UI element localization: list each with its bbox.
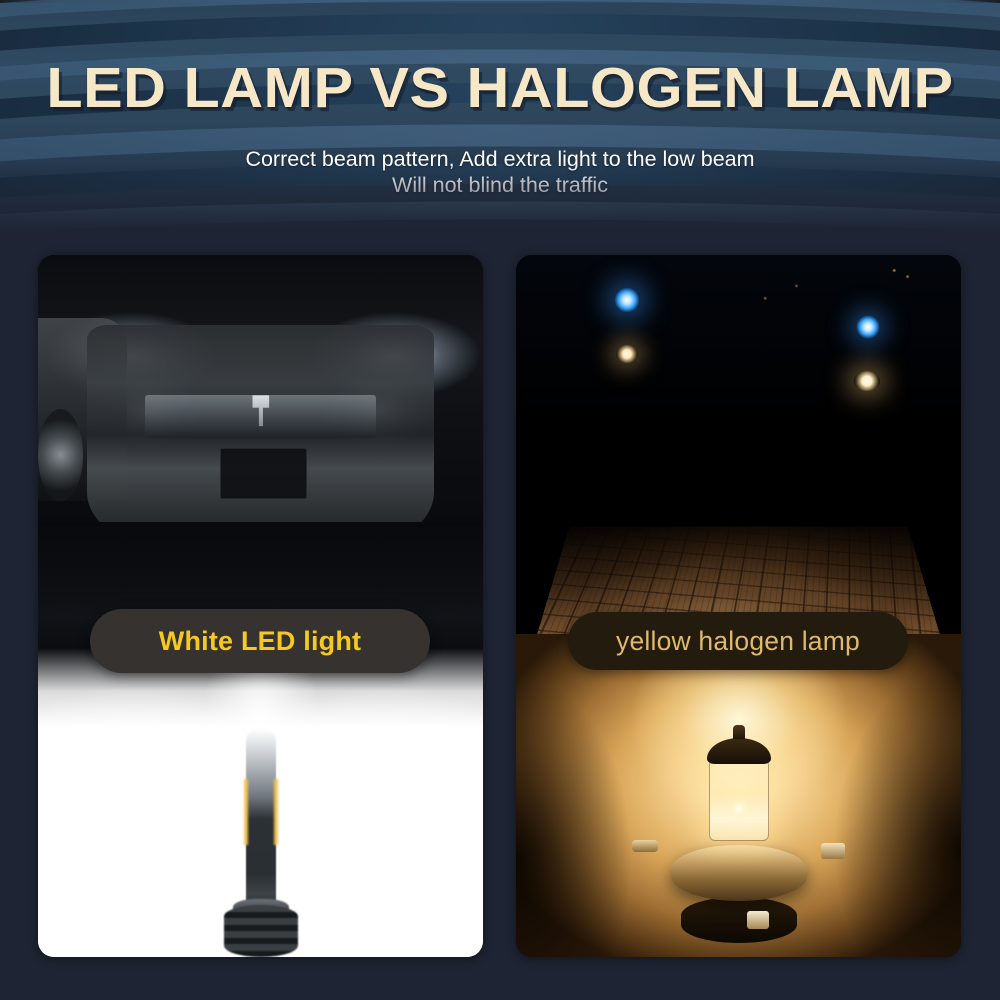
license-plate [220,448,307,499]
label-white-led-light: White LED light [90,609,430,673]
amber-fog-light-right [854,371,880,391]
halogen-tab-bottom [747,911,769,929]
car-wheel [38,409,83,500]
photo-led-scene [38,255,483,957]
amber-fog-light-left [616,345,638,363]
label-yellow-halogen-lamp-text: yellow halogen lamp [616,626,860,657]
panel-led[interactable] [38,255,483,957]
comparison-panels: White LED light yellow halogen lamp [0,0,1000,1000]
photo-halogen-scene [516,255,961,957]
label-yellow-halogen-lamp: yellow halogen lamp [568,612,908,670]
halogen-tab-right [821,843,845,859]
blue-led-light-left [614,287,640,313]
blue-led-light-right [856,315,880,339]
halogen-filament [726,794,752,824]
halogen-bulb-tip [733,725,745,739]
led-bulb-base [224,905,298,957]
poster-root: LED LAMP VS HALOGEN LAMP Correct beam pa… [0,0,1000,1000]
halogen-socket-lower [681,897,797,943]
halogen-socket-flange [671,845,807,901]
halogen-tab-left [632,840,658,852]
label-white-led-light-text: White LED light [159,626,361,657]
panel-halogen[interactable] [516,255,961,957]
led-chips [241,779,281,845]
